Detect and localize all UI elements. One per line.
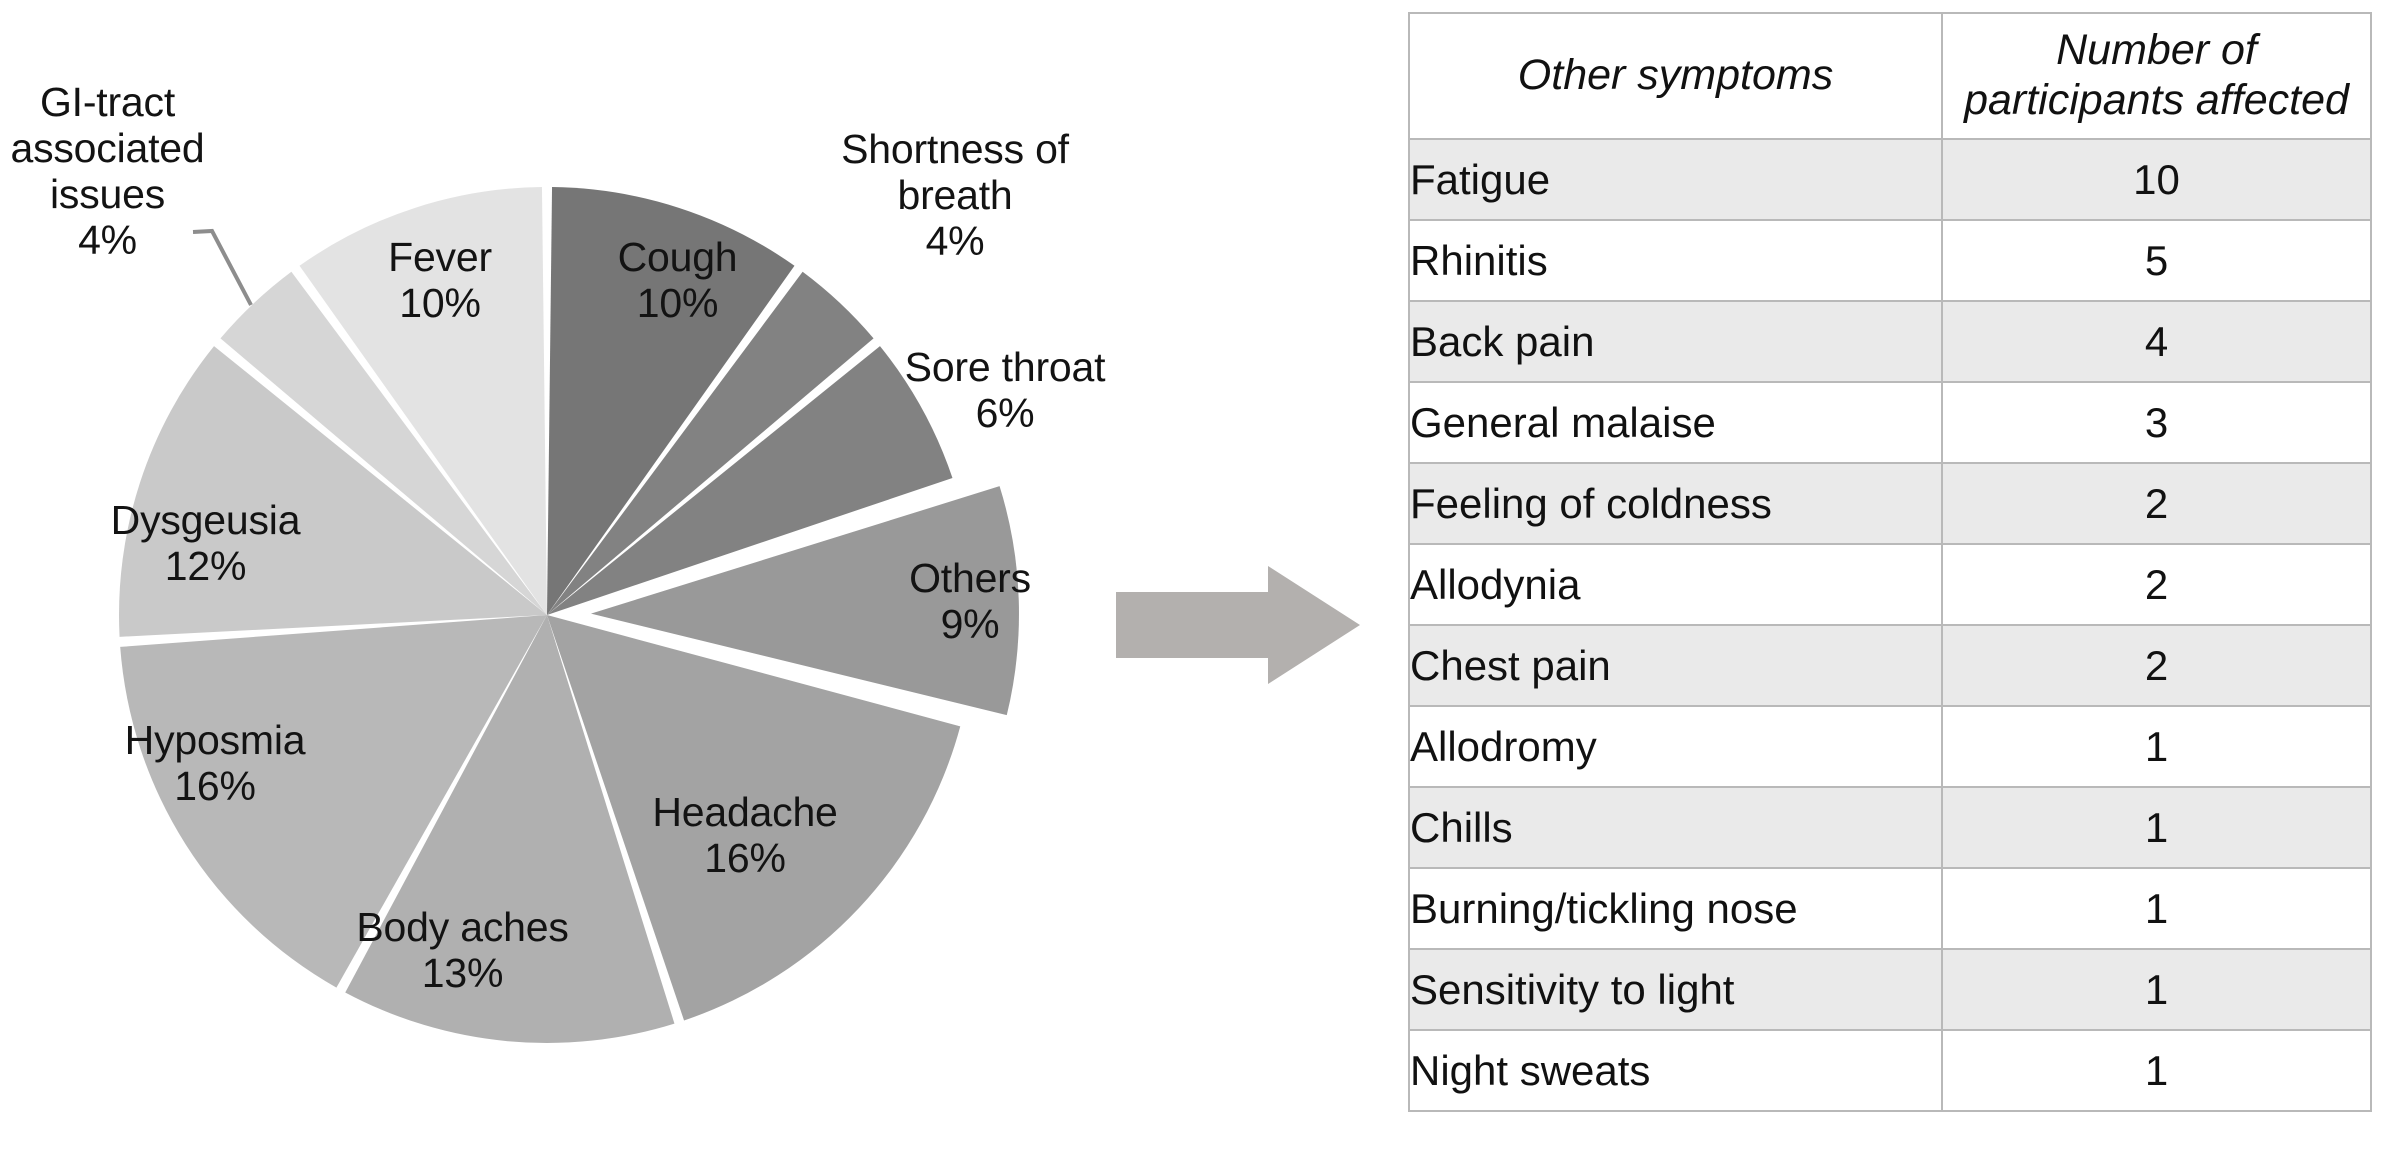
pie-label-fever: Fever 10% xyxy=(330,235,550,327)
table-cell-symptom: Allodynia xyxy=(1409,544,1942,625)
pie-label-gi-tract: GI-tract associated issues 4% xyxy=(0,80,215,264)
table-row: Back pain4 xyxy=(1409,301,2371,382)
pie-label-others: Others 9% xyxy=(865,556,1075,648)
table-cell-count: 2 xyxy=(1942,544,2371,625)
other-symptoms-table-panel: Other symptoms Number of participants af… xyxy=(1408,12,2370,1112)
flow-arrow xyxy=(1108,560,1368,690)
table-header-symptom: Other symptoms xyxy=(1409,13,1942,139)
pie-label-hyposmia: Hyposmia 16% xyxy=(70,718,360,810)
table-cell-count: 4 xyxy=(1942,301,2371,382)
other-symptoms-table: Other symptoms Number of participants af… xyxy=(1408,12,2372,1112)
table-cell-count: 5 xyxy=(1942,220,2371,301)
table-header-row: Other symptoms Number of participants af… xyxy=(1409,13,2371,139)
table-row: Allodynia2 xyxy=(1409,544,2371,625)
table-row: Chest pain2 xyxy=(1409,625,2371,706)
table-cell-count: 10 xyxy=(1942,139,2371,220)
table-cell-symptom: Allodromy xyxy=(1409,706,1942,787)
right-arrow-icon xyxy=(1108,560,1368,690)
pie-label-sore-throat: Sore throat 6% xyxy=(870,345,1140,437)
table-row: Feeling of coldness2 xyxy=(1409,463,2371,544)
table-head: Other symptoms Number of participants af… xyxy=(1409,13,2371,139)
table-row: Fatigue10 xyxy=(1409,139,2371,220)
table-body: Fatigue10Rhinitis5Back pain4General mala… xyxy=(1409,139,2371,1111)
table-row: Burning/tickling nose1 xyxy=(1409,868,2371,949)
table-cell-symptom: General malaise xyxy=(1409,382,1942,463)
table-row: Rhinitis5 xyxy=(1409,220,2371,301)
table-cell-symptom: Burning/tickling nose xyxy=(1409,868,1942,949)
table-cell-count: 2 xyxy=(1942,463,2371,544)
table-cell-symptom: Night sweats xyxy=(1409,1030,1942,1111)
table-header-count: Number of participants affected xyxy=(1942,13,2371,139)
figure-root: GI-tract associated issues 4% Fever 10% … xyxy=(0,0,2404,1176)
table-row: Night sweats1 xyxy=(1409,1030,2371,1111)
pie-label-shortness-of-breath: Shortness of breath 4% xyxy=(805,127,1105,265)
pie-label-body-aches: Body aches 13% xyxy=(315,905,610,997)
table-cell-count: 1 xyxy=(1942,787,2371,868)
table-cell-count: 3 xyxy=(1942,382,2371,463)
pie-label-cough: Cough 10% xyxy=(570,235,785,327)
table-cell-count: 1 xyxy=(1942,949,2371,1030)
table-cell-count: 2 xyxy=(1942,625,2371,706)
pie-chart-panel: GI-tract associated issues 4% Fever 10% … xyxy=(0,0,1120,1176)
table-cell-count: 1 xyxy=(1942,1030,2371,1111)
table-cell-symptom: Chest pain xyxy=(1409,625,1942,706)
pie-label-headache: Headache 16% xyxy=(600,790,890,882)
table-cell-symptom: Rhinitis xyxy=(1409,220,1942,301)
table-cell-symptom: Sensitivity to light xyxy=(1409,949,1942,1030)
table-cell-count: 1 xyxy=(1942,706,2371,787)
table-cell-symptom: Fatigue xyxy=(1409,139,1942,220)
table-cell-symptom: Chills xyxy=(1409,787,1942,868)
table-row: Chills1 xyxy=(1409,787,2371,868)
table-row: General malaise3 xyxy=(1409,382,2371,463)
table-cell-symptom: Back pain xyxy=(1409,301,1942,382)
pie-label-dysgeusia: Dysgeusia 12% xyxy=(58,498,353,590)
table-cell-symptom: Feeling of coldness xyxy=(1409,463,1942,544)
table-cell-count: 1 xyxy=(1942,868,2371,949)
table-row: Allodromy1 xyxy=(1409,706,2371,787)
table-row: Sensitivity to light1 xyxy=(1409,949,2371,1030)
